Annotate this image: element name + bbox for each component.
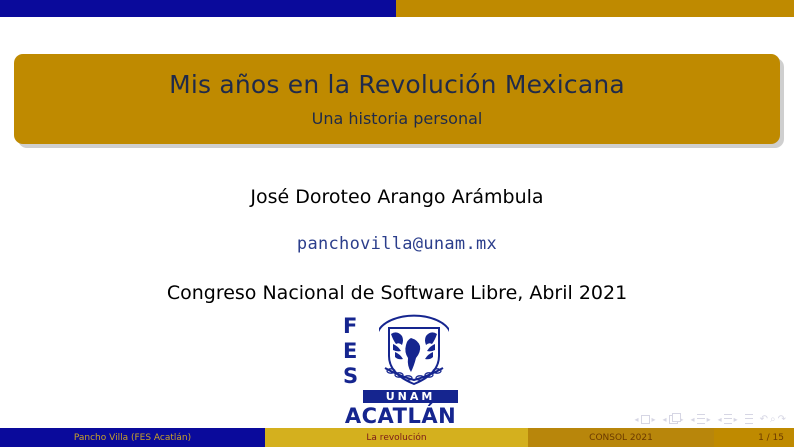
header-bar-right-segment (396, 0, 794, 17)
nav-back-icon[interactable]: ↶ (760, 415, 768, 424)
nav-slide-group[interactable]: ◂ ▸ (634, 415, 655, 424)
fes-letters: F E S (343, 314, 373, 389)
nav-slide-next-icon[interactable]: ▸ (652, 415, 656, 424)
nav-section-group[interactable]: ◂ ▸ (718, 414, 738, 424)
acatlan-wordmark: ACATLÁN (343, 404, 458, 428)
fes-letter-s: S (343, 364, 373, 389)
venue-line: Congreso Nacional de Software Libre, Abr… (0, 282, 794, 304)
nav-section-next-icon[interactable]: ▸ (734, 415, 738, 424)
footer-section: La revolución (265, 428, 528, 447)
slide-content: José Doroteo Arango Arámbula panchovilla… (0, 160, 794, 304)
nav-section-prev-icon[interactable]: ◂ (718, 415, 722, 424)
header-bar-left-segment (0, 0, 396, 17)
nav-subsection-icon[interactable] (697, 414, 705, 424)
fes-letter-f: F (343, 314, 373, 339)
unam-shield-icon (371, 312, 457, 392)
nav-subsection-prev-icon[interactable]: ◂ (691, 415, 695, 424)
author-name: José Doroteo Arango Arámbula (0, 186, 794, 208)
footer-page-number: 1 / 15 (714, 428, 794, 447)
presentation-subtitle: Una historia personal (312, 109, 483, 128)
footer-author: Pancho Villa (FES Acatlán) (0, 428, 265, 447)
unam-wordmark: UNAM (363, 390, 458, 403)
nav-presentation-icon[interactable] (745, 414, 753, 424)
nav-slide-icon[interactable] (641, 415, 650, 424)
nav-slide-prev-icon[interactable]: ◂ (634, 415, 638, 424)
nav-frame-group[interactable]: ◂ ▸ (663, 415, 684, 424)
presentation-title: Mis años en la Revolución Mexicana (169, 70, 625, 99)
fes-acatlan-unam-logo: F E S UNAM ACATLÁN (343, 312, 458, 420)
nav-section-icon[interactable] (724, 414, 732, 424)
beamer-navigation-symbols[interactable]: ◂ ▸ ◂ ▸ ◂ ▸ ◂ ▸ ↶ ⌕ ↷ (634, 412, 786, 426)
footer-event: CONSOL 2021 (528, 428, 714, 447)
nav-frame-prev-icon[interactable]: ◂ (663, 415, 667, 424)
fes-letter-e: E (343, 339, 373, 364)
title-block: Mis años en la Revolución Mexicana Una h… (14, 54, 780, 144)
nav-history-group[interactable]: ↶ ⌕ ↷ (760, 415, 786, 424)
nav-subsection-next-icon[interactable]: ▸ (707, 415, 711, 424)
author-email[interactable]: panchovilla@unam.mx (0, 234, 794, 254)
nav-subsection-group[interactable]: ◂ ▸ (691, 414, 711, 424)
top-header-bar (0, 0, 794, 17)
nav-presentation-group[interactable] (745, 414, 753, 424)
nav-forward-icon[interactable]: ↷ (778, 415, 786, 424)
footer-bar: Pancho Villa (FES Acatlán) La revolución… (0, 428, 794, 447)
nav-search-icon[interactable]: ⌕ (770, 415, 776, 424)
nav-frame-icon[interactable] (669, 415, 678, 424)
